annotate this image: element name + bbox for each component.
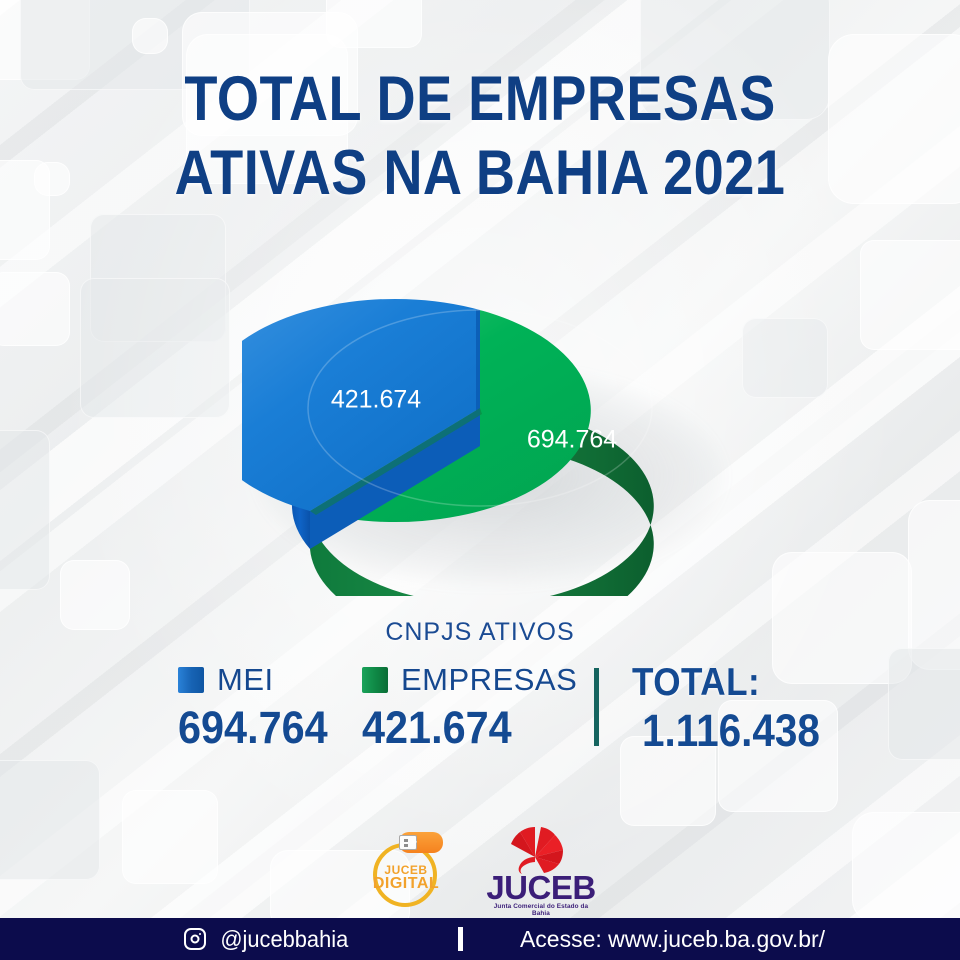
background-square [888, 648, 960, 760]
background-square [80, 278, 230, 418]
website-url: Acesse: www.juceb.ba.gov.br/ [520, 926, 825, 952]
legend-divider [594, 668, 599, 746]
juceb-logo: JUCEB Junta Comercial do Estado da Bahia [485, 827, 597, 911]
title-line-1: TOTAL DE EMPRESAS [67, 62, 893, 136]
legend-item-empresas[interactable]: EMPRESAS 421.674 [362, 662, 577, 754]
juceb-wordmark: JUCEB [485, 871, 597, 904]
legend-label-empresas: EMPRESAS [401, 662, 577, 698]
legend-item-mei[interactable]: MEI 694.764 [178, 662, 341, 754]
background-square [132, 18, 168, 54]
legend-swatch-mei [178, 667, 204, 693]
legend-header: CNPJS ATIVOS [0, 618, 960, 647]
infographic-poster: TOTAL DE EMPRESAS ATIVAS NA BAHIA 2021 [0, 0, 960, 960]
pie-label-blue: 421.674 [331, 386, 421, 414]
background-square [326, 0, 422, 48]
footer-bar: @jucebbahia Acesse: www.juceb.ba.gov.br/ [0, 918, 960, 960]
legend: MEI 694.764 EMPRESAS 421.674 TOTAL: 1.11… [150, 662, 830, 762]
juceb-fan-icon [505, 827, 567, 875]
page-title: TOTAL DE EMPRESAS ATIVAS NA BAHIA 2021 [67, 62, 893, 210]
juceb-digital-text: JUCEB DIGITAL [363, 863, 449, 891]
instagram-handle: @jucebbahia [220, 926, 348, 953]
legend-value-mei: 694.764 [178, 702, 328, 754]
background-square [860, 240, 960, 350]
total-value: 1.116.438 [642, 706, 820, 756]
logo-row: » JUCEB DIGITAL JUCEB Ju [0, 826, 960, 912]
background-square [34, 162, 70, 196]
instagram-block[interactable]: @jucebbahia [78, 926, 458, 953]
juceb-digital-line-2: DIGITAL [363, 877, 449, 891]
total-block: TOTAL: 1.116.438 [632, 662, 840, 756]
background-square [742, 318, 828, 398]
usb-body: » [399, 832, 443, 853]
instagram-icon [184, 928, 206, 950]
legend-label-mei: MEI [217, 662, 274, 698]
pie-chart-svg: 421.674 694.764 [242, 296, 732, 596]
usb-drive-icon: » [383, 831, 445, 853]
usb-glyph: » [411, 837, 416, 848]
juceb-digital-logo: » JUCEB DIGITAL [363, 827, 459, 911]
background-square [0, 430, 50, 590]
pie-label-green: 694.764 [527, 426, 617, 454]
website-block[interactable]: Acesse: www.juceb.ba.gov.br/ [463, 926, 883, 953]
juceb-subtitle: Junta Comercial do Estado da Bahia [485, 903, 597, 917]
pie-chart: 421.674 694.764 [242, 296, 732, 596]
total-label: TOTAL: [632, 662, 819, 704]
legend-value-empresas: 421.674 [362, 702, 560, 754]
background-square [0, 272, 70, 346]
title-line-2: ATIVAS NA BAHIA 2021 [67, 136, 893, 210]
legend-swatch-empresas [362, 667, 388, 693]
